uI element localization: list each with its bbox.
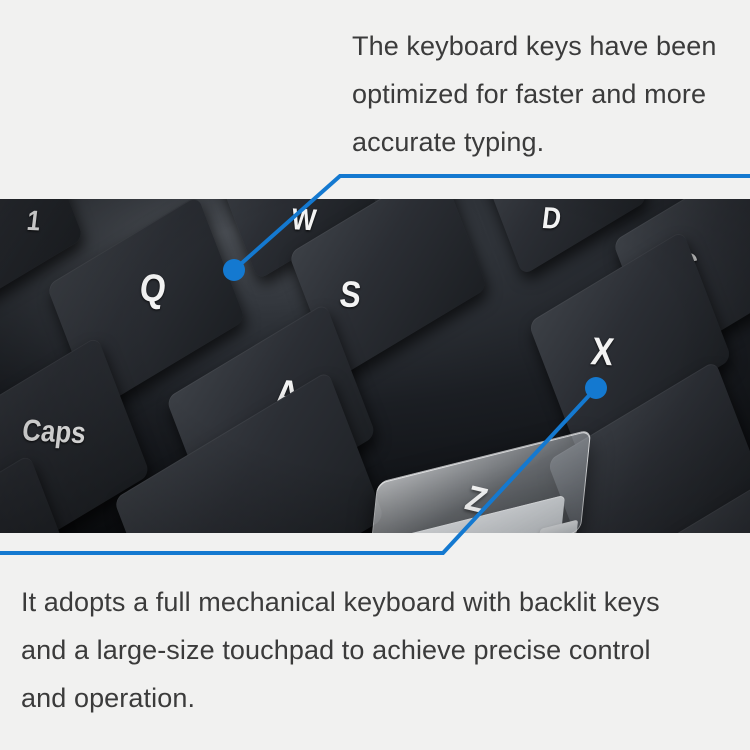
- promo-panel: The keyboard keys have been optimized fo…: [0, 0, 750, 750]
- keyboard-photo: 1 W D Q S C A X Caps: [0, 199, 750, 533]
- photo-vignette: [0, 199, 750, 533]
- callout-text-bottom: It adopts a full mechanical keyboard wit…: [21, 578, 681, 722]
- callout-text-top: The keyboard keys have been optimized fo…: [352, 22, 732, 166]
